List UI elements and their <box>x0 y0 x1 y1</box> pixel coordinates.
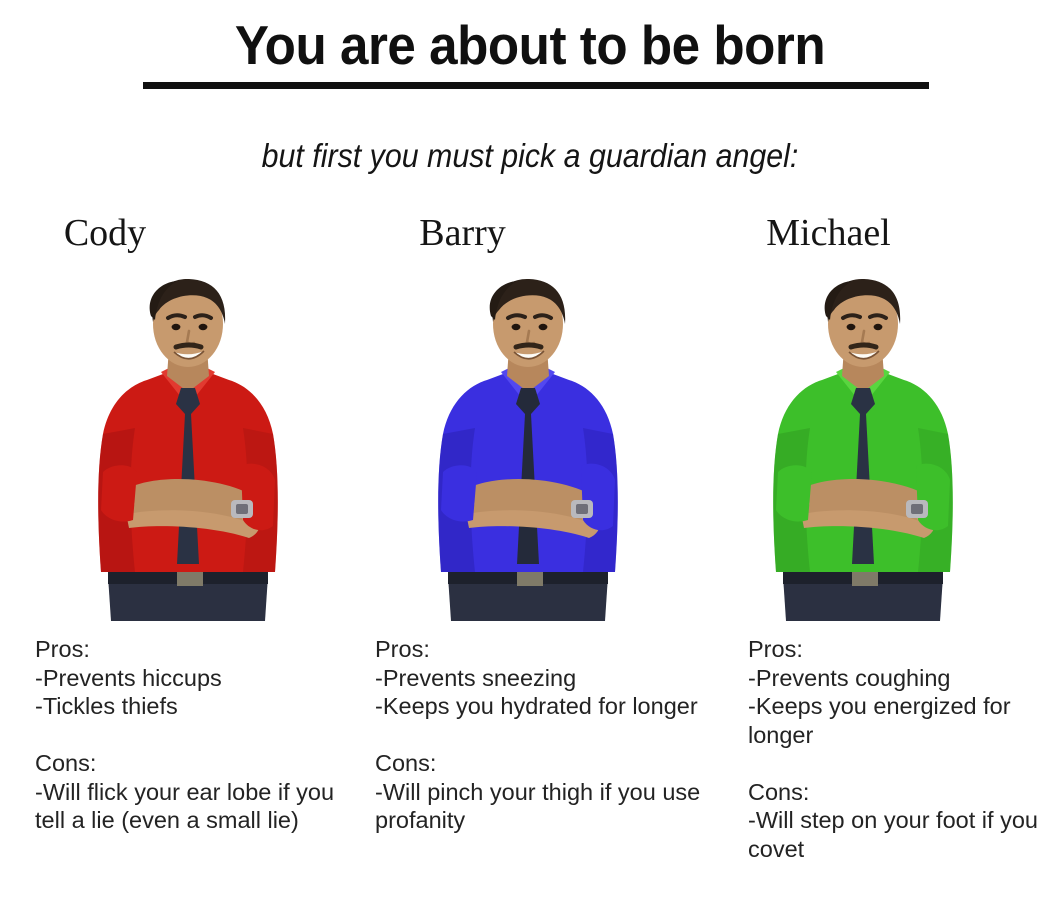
angel-name-cody: Cody <box>18 210 358 256</box>
pros-item: -Keeps you energized for longer <box>748 692 1060 749</box>
pros-label: Pros: <box>35 635 360 664</box>
pros-item: -Tickles thiefs <box>35 692 360 721</box>
cons-item: -Will pinch your thigh if you use profan… <box>375 778 733 835</box>
angel-option-barry[interactable]: Barry <box>360 210 732 835</box>
angel-photo-cody <box>18 276 358 621</box>
cons-label: Cons: <box>375 749 733 778</box>
angel-photo-michael <box>733 276 1055 621</box>
pros-item: -Keeps you hydrated for longer <box>375 692 733 721</box>
prosncons-barry: Pros: -Prevents sneezing -Keeps you hydr… <box>375 635 733 835</box>
prosncons-michael: Pros: -Prevents coughing -Keeps you ener… <box>748 635 1060 863</box>
angel-option-cody[interactable]: Cody <box>18 210 358 835</box>
man-figure-red-shirt <box>73 276 303 621</box>
man-figure-green-shirt <box>748 276 978 621</box>
cons-item: -Will flick your ear lobe if you tell a … <box>35 778 360 835</box>
pros-item: -Prevents coughing <box>748 664 1060 693</box>
spacer <box>748 749 1060 778</box>
meme-title: You are about to be born <box>37 14 1023 76</box>
cons-label: Cons: <box>35 749 360 778</box>
cons-label: Cons: <box>748 778 1060 807</box>
pros-label: Pros: <box>748 635 1060 664</box>
angel-name-barry: Barry <box>360 210 732 256</box>
meme-subtitle: but first you must pick a guardian angel… <box>42 136 1017 176</box>
angel-option-michael[interactable]: Michael <box>733 210 1055 863</box>
spacer <box>35 721 360 750</box>
man-figure-blue-shirt <box>413 276 643 621</box>
cons-item: -Will step on your foot if you covet <box>748 806 1060 863</box>
angel-name-michael: Michael <box>733 210 1055 256</box>
angel-photo-barry <box>360 276 732 621</box>
pros-label: Pros: <box>375 635 733 664</box>
title-underline-rule <box>143 82 929 89</box>
prosncons-cody: Pros: -Prevents hiccups -Tickles thiefs … <box>35 635 360 835</box>
pros-item: -Prevents sneezing <box>375 664 733 693</box>
spacer <box>375 721 733 750</box>
pros-item: -Prevents hiccups <box>35 664 360 693</box>
